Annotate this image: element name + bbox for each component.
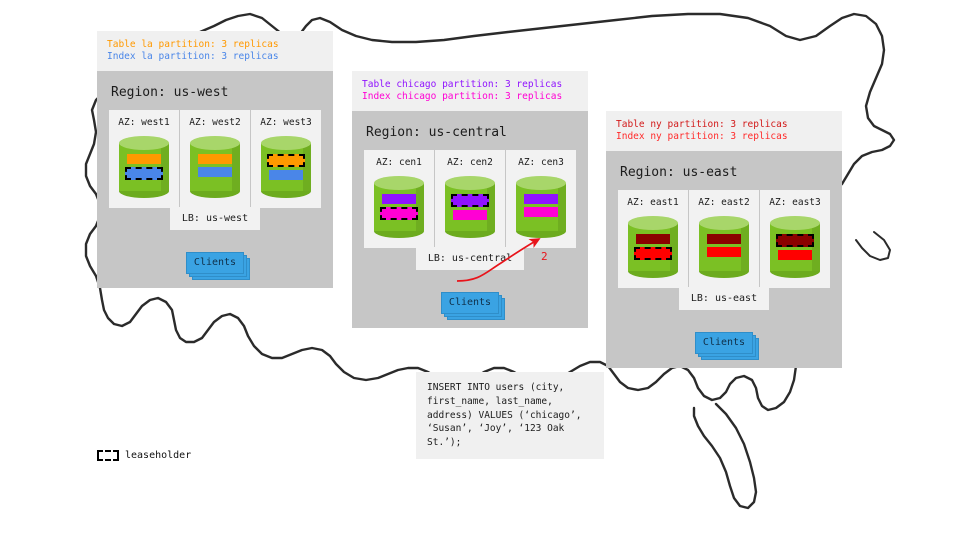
load-balancer-us-central[interactable]: LB: us-central <box>416 247 524 270</box>
database-cylinder-cen2[interactable] <box>445 176 495 238</box>
index-replica-bar-leaseholder <box>380 207 418 220</box>
cylinder-top <box>445 176 495 190</box>
table-replicas-line: Table la partition: 3 replicas <box>107 39 323 51</box>
az-cen2[interactable]: AZ: cen2 <box>435 150 506 248</box>
region-title: Region: us-central <box>366 125 576 140</box>
clients-row: Clients <box>364 292 576 314</box>
clients-row: Clients <box>618 332 830 354</box>
replica-bars <box>374 194 424 220</box>
region-panel-us-central: Table chicago partition: 3 replicas Inde… <box>352 71 588 328</box>
region-body-us-central: Region: us-central AZ: cen1 <box>352 111 588 328</box>
cylinder-top <box>770 216 820 230</box>
az-row-us-central: AZ: cen1 AZ: cen2 <box>364 150 576 248</box>
clients-row: Clients <box>109 252 321 274</box>
index-replica-bar-leaseholder <box>634 247 672 260</box>
az-west3[interactable]: AZ: west3 <box>251 110 321 208</box>
database-cylinder-east1[interactable] <box>628 216 678 278</box>
index-replicas-line: Index ny partition: 3 replicas <box>616 131 832 143</box>
leaseholder-legend-label: leaseholder <box>125 450 191 461</box>
table-replica-bar <box>707 234 741 244</box>
az-west1[interactable]: AZ: west1 <box>109 110 180 208</box>
sql-insert-statement: INSERT INTO users (city, first_name, las… <box>416 372 604 459</box>
lb-row: LB: us-east <box>618 287 830 310</box>
table-replica-bar <box>636 234 670 244</box>
database-cylinder-west1[interactable] <box>119 136 169 198</box>
index-replica-bar <box>524 207 558 217</box>
replica-bars <box>261 154 311 180</box>
replica-bars <box>190 154 240 177</box>
clients-card-front[interactable]: Clients <box>186 252 244 274</box>
table-replica-bar <box>382 194 416 204</box>
database-cylinder-east3[interactable] <box>770 216 820 278</box>
table-replica-bar-leaseholder <box>776 234 814 247</box>
index-replica-bar <box>453 210 487 220</box>
cylinder-top <box>628 216 678 230</box>
cylinder-top <box>190 136 240 150</box>
replica-bars <box>119 154 169 180</box>
az-cen1[interactable]: AZ: cen1 <box>364 150 435 248</box>
lb-row: LB: us-west <box>109 207 321 230</box>
cylinder-top <box>261 136 311 150</box>
replica-bars <box>770 234 820 260</box>
database-cylinder-cen1[interactable] <box>374 176 424 238</box>
az-row-us-west: AZ: west1 AZ: west2 <box>109 110 321 208</box>
load-balancer-us-west[interactable]: LB: us-west <box>170 207 260 230</box>
az-label: AZ: west1 <box>118 117 169 128</box>
az-east3[interactable]: AZ: east3 <box>760 190 830 288</box>
table-replica-bar <box>127 154 161 164</box>
table-replica-bar-leaseholder <box>451 194 489 207</box>
region-panel-us-east: Table ny partition: 3 replicas Index ny … <box>606 111 842 368</box>
region-header-us-central: Table chicago partition: 3 replicas Inde… <box>352 71 588 111</box>
az-west2[interactable]: AZ: west2 <box>180 110 251 208</box>
table-replicas-line: Table chicago partition: 3 replicas <box>362 79 578 91</box>
region-body-us-east: Region: us-east AZ: east1 <box>606 151 842 368</box>
index-replica-bar <box>778 250 812 260</box>
clients-stack-us-west[interactable]: Clients <box>186 252 244 274</box>
az-label: AZ: west3 <box>260 117 311 128</box>
database-cylinder-cen3[interactable] <box>516 176 566 238</box>
az-label: AZ: east3 <box>769 197 820 208</box>
region-title: Region: us-west <box>111 85 321 100</box>
az-label: AZ: east2 <box>698 197 749 208</box>
cylinder-top <box>374 176 424 190</box>
index-replica-bar <box>269 170 303 180</box>
az-cen3[interactable]: AZ: cen3 <box>506 150 576 248</box>
database-cylinder-east2[interactable] <box>699 216 749 278</box>
region-panel-us-west: Table la partition: 3 replicas Index la … <box>97 31 333 288</box>
clients-card-front[interactable]: Clients <box>695 332 753 354</box>
table-replica-bar-leaseholder <box>267 154 305 167</box>
az-label: AZ: cen3 <box>518 157 564 168</box>
clients-stack-us-east[interactable]: Clients <box>695 332 753 354</box>
az-east2[interactable]: AZ: east2 <box>689 190 760 288</box>
step-2-arrow-label: 2 <box>541 250 548 263</box>
replica-bars <box>516 194 566 217</box>
leaseholder-legend: leaseholder <box>97 450 191 461</box>
az-east1[interactable]: AZ: east1 <box>618 190 689 288</box>
az-label: AZ: cen2 <box>447 157 493 168</box>
cylinder-top <box>119 136 169 150</box>
leaseholder-dashed-box-icon <box>97 450 119 461</box>
clients-stack-us-central[interactable]: Clients <box>441 292 499 314</box>
region-title: Region: us-east <box>620 165 830 180</box>
table-replica-bar <box>524 194 558 204</box>
index-replica-bar <box>707 247 741 257</box>
index-replicas-line: Index la partition: 3 replicas <box>107 51 323 63</box>
load-balancer-us-east[interactable]: LB: us-east <box>679 287 769 310</box>
az-row-us-east: AZ: east1 AZ: east2 <box>618 190 830 288</box>
region-header-us-east: Table ny partition: 3 replicas Index ny … <box>606 111 842 151</box>
cylinder-top <box>699 216 749 230</box>
database-cylinder-west2[interactable] <box>190 136 240 198</box>
replica-bars <box>699 234 749 257</box>
index-replica-bar-leaseholder <box>125 167 163 180</box>
cylinder-top <box>516 176 566 190</box>
table-replicas-line: Table ny partition: 3 replicas <box>616 119 832 131</box>
replica-bars <box>628 234 678 260</box>
az-label: AZ: cen1 <box>376 157 422 168</box>
region-body-us-west: Region: us-west AZ: west1 <box>97 71 333 288</box>
database-cylinder-west3[interactable] <box>261 136 311 198</box>
diagram-canvas: Table la partition: 3 replicas Index la … <box>0 0 960 540</box>
az-label: AZ: east1 <box>627 197 678 208</box>
replica-bars <box>445 194 495 220</box>
index-replicas-line: Index chicago partition: 3 replicas <box>362 91 578 103</box>
table-replica-bar <box>198 154 232 164</box>
index-replica-bar <box>198 167 232 177</box>
clients-card-front[interactable]: Clients <box>441 292 499 314</box>
region-header-us-west: Table la partition: 3 replicas Index la … <box>97 31 333 71</box>
az-label: AZ: west2 <box>189 117 240 128</box>
